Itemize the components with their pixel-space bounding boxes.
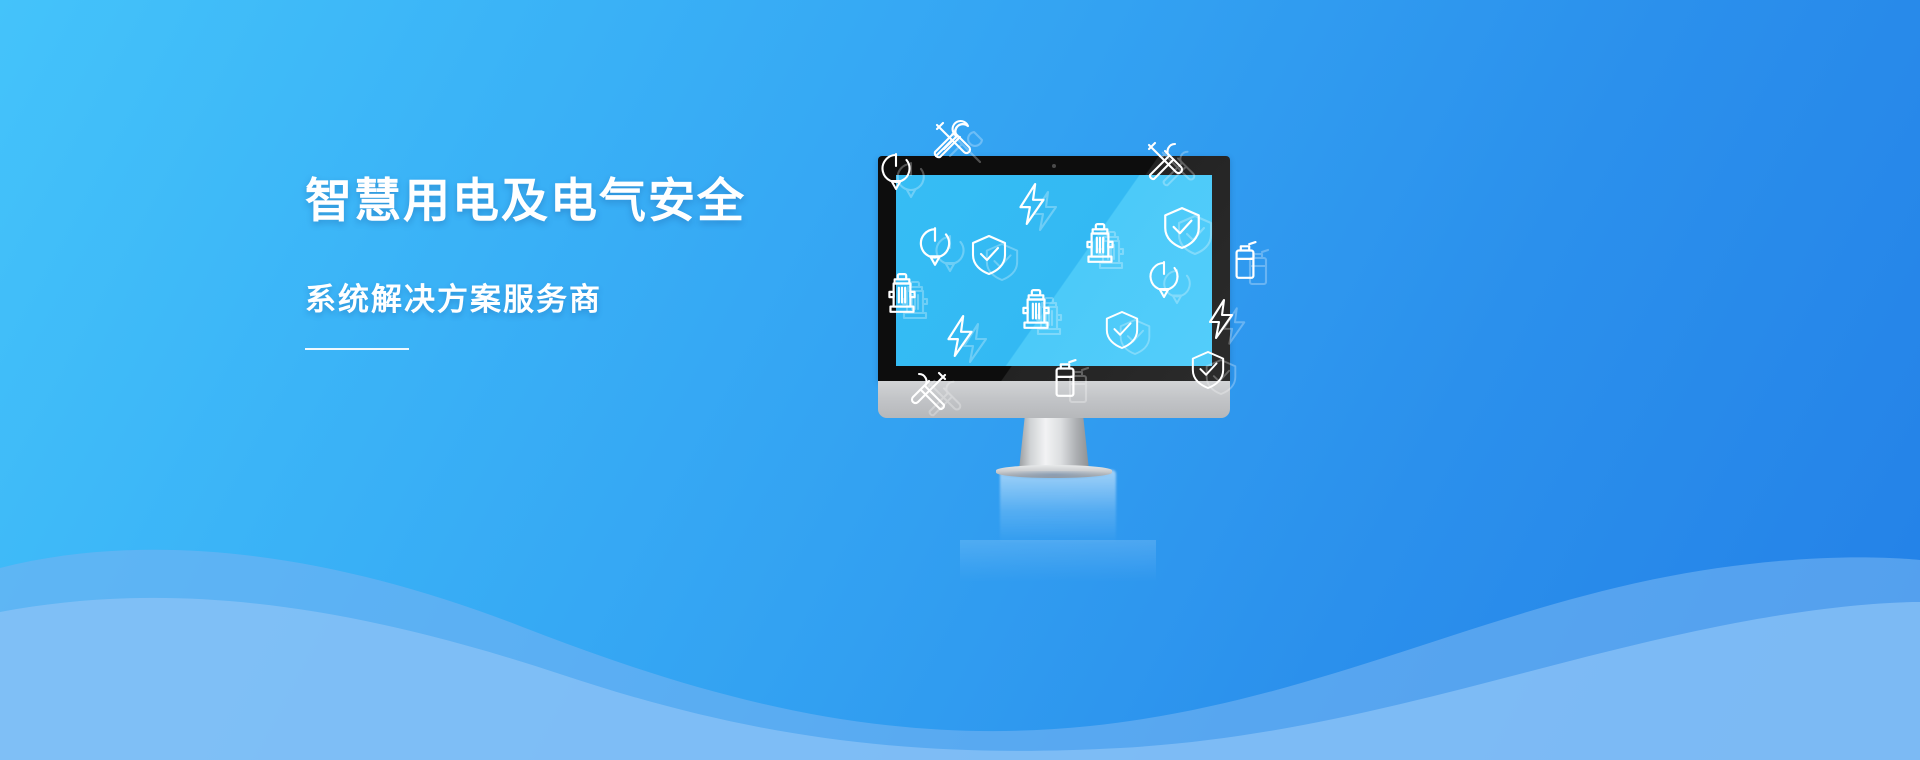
webcam-dot (1052, 164, 1056, 168)
lightning-bolt-icon (1016, 182, 1048, 226)
monitor-floor-reflection (960, 540, 1156, 582)
power-arc-icon (1146, 258, 1182, 302)
wave-decoration (0, 430, 1920, 760)
wrench-screwdriver-icon (930, 118, 976, 164)
hero-banner: 智慧用电及电气安全 系统解决方案服务商 (0, 0, 1920, 760)
title-divider (305, 348, 409, 350)
monitor-base-shadow (996, 471, 1112, 480)
power-arc-icon (916, 224, 954, 270)
lightning-bolt-icon (944, 314, 976, 358)
shield-check-icon (970, 234, 1008, 276)
monitor-stand-neck (1019, 418, 1089, 470)
shield-check-icon (1104, 310, 1140, 350)
wrench-screwdriver-icon (906, 368, 952, 414)
lightning-bolt-icon (1206, 298, 1236, 340)
shield-check-icon (1162, 206, 1202, 250)
fire-hydrant-icon (886, 272, 918, 316)
shield-check-icon (1190, 350, 1226, 390)
fire-extinguisher-icon (1050, 358, 1080, 400)
fire-extinguisher-icon (1230, 240, 1260, 282)
fire-hydrant-icon (1084, 222, 1116, 266)
power-arc-icon (878, 150, 914, 194)
fire-hydrant-icon (1020, 288, 1052, 332)
monitor-stand-reflection (1000, 470, 1116, 544)
wrench-screwdriver-icon (1142, 138, 1188, 184)
